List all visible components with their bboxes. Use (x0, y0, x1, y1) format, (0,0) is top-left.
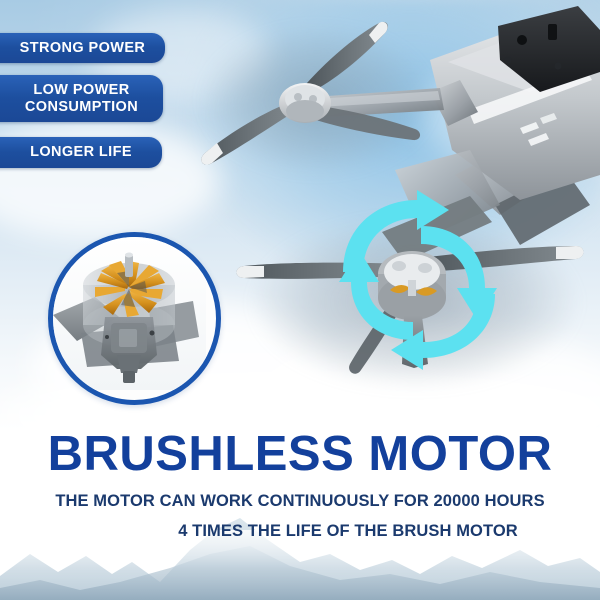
badge-label: STRONG POWER (20, 40, 146, 56)
rotation-arrows-group (325, 190, 520, 370)
brushless-motor-closeup-inset (48, 232, 221, 405)
page-title: BRUSHLESS MOTOR (0, 430, 600, 479)
badge-low-power-consumption[interactable]: LOW POWER CONSUMPTION (0, 75, 163, 122)
badge-label-line2: CONSUMPTION (25, 99, 138, 115)
badge-label-multiline: LOW POWER CONSUMPTION (25, 82, 138, 114)
badge-longer-life[interactable]: LONGER LIFE (0, 137, 162, 168)
subtitle-line-2: 4 TIMES THE LIFE OF THE BRUSH MOTOR (0, 522, 600, 541)
subtitle-line-1: THE MOTOR CAN WORK CONTINUOUSLY FOR 2000… (0, 492, 600, 511)
badge-strong-power[interactable]: STRONG POWER (0, 33, 165, 63)
promo-banner: STRONG POWER LOW POWER CONSUMPTION LONGE… (0, 0, 600, 600)
badge-label: LONGER LIFE (30, 144, 132, 160)
motor-closeup-illustration (53, 237, 206, 390)
badge-label-line1: LOW POWER (33, 82, 129, 98)
